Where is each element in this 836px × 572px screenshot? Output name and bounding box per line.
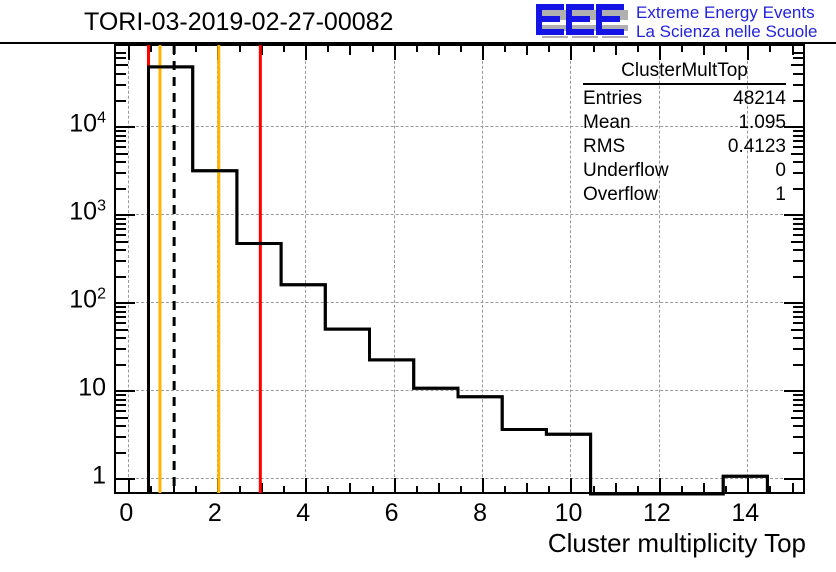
stats-row: Underflow0	[577, 159, 792, 183]
stats-row: Overflow1	[577, 183, 792, 207]
stats-row-value: 0	[775, 159, 786, 183]
stats-row-value: 0.4123	[728, 135, 786, 159]
stats-row-value: 1.095	[738, 111, 786, 135]
stats-row-value: 48214	[733, 87, 786, 111]
stats-row-label: Entries	[583, 87, 642, 111]
stats-row: RMS0.4123	[577, 135, 792, 159]
stats-title: ClusterMultTop	[583, 60, 786, 85]
stats-row-label: Mean	[583, 111, 631, 135]
stats-box: ClusterMultTop Entries48214Mean1.095RMS0…	[577, 60, 792, 207]
x-axis-title: Cluster multiplicity Top	[548, 528, 806, 559]
stats-row-value: 1	[775, 183, 786, 207]
stats-row-label: Overflow	[583, 183, 658, 207]
stats-row-label: Underflow	[583, 159, 669, 183]
root-canvas: TORI-03-2019-02-27-00082 Extreme Energy …	[0, 0, 836, 572]
stats-row: Entries48214	[577, 87, 792, 111]
stats-rows: Entries48214Mean1.095RMS0.4123Underflow0…	[577, 87, 792, 207]
stats-row-label: RMS	[583, 135, 625, 159]
stats-row: Mean1.095	[577, 111, 792, 135]
